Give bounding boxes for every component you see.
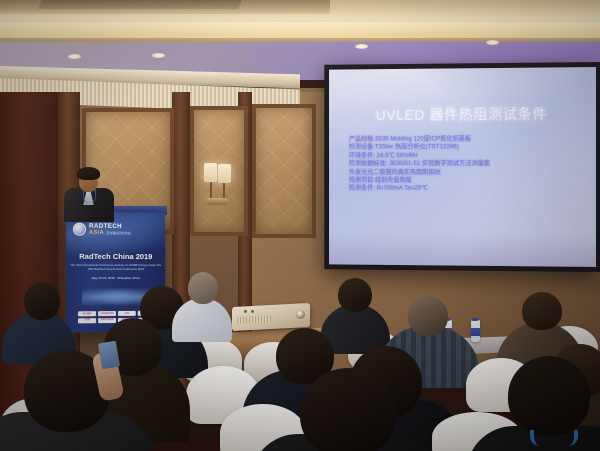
ceiling-coffer-inner <box>38 0 242 9</box>
globe-icon <box>73 223 86 236</box>
sconce-stem <box>223 183 225 199</box>
downlight-icon <box>152 53 165 58</box>
sconce-base <box>206 198 228 205</box>
slide-line: 外发光光二极管的真实热阻和阻抗 <box>349 169 582 177</box>
projector-button <box>251 310 254 313</box>
wall-quilt-panel <box>252 104 316 238</box>
slide-title: UVLED 器件热阻测试条件 <box>329 103 596 125</box>
person-head <box>338 278 372 312</box>
bottle-cap <box>472 318 478 321</box>
person-head <box>24 282 60 320</box>
person-lanyard <box>530 430 578 446</box>
podium-date: May 13-15, 2019 · Shanghai, China <box>66 276 165 280</box>
water-bottle <box>471 320 480 342</box>
downlight-icon <box>68 54 81 59</box>
conference-photo: UVLED 器件热阻测试条件 产品规格:3535 Molding 120度ICP… <box>0 0 600 451</box>
person-head <box>522 292 562 330</box>
sponsor-logo: ALLNEX <box>78 311 96 316</box>
screen-surface: UVLED 器件热阻测试条件 产品规格:3535 Molding 120度ICP… <box>329 67 596 267</box>
logo-tiny: 亚洲辐射固化协会 <box>106 230 131 234</box>
projector-button <box>244 310 247 313</box>
sponsor-logo: COVESTRO <box>98 311 116 316</box>
downlight-icon <box>355 44 368 49</box>
podium-subline: The 19th International Conference & Expo… <box>70 263 161 271</box>
sconce-shade-icon <box>204 163 217 182</box>
projector-lens-icon <box>296 310 305 319</box>
sconce-stem <box>210 182 212 198</box>
screen-shading <box>329 231 596 267</box>
bottle-label <box>471 328 480 336</box>
logo-sub: ASIA <box>89 229 104 235</box>
sconce-shade-icon <box>218 164 231 183</box>
sponsor-logo: SARTOMER <box>98 317 116 322</box>
slide-line: 检测设备:T3Ster 热阻分析仪(TST12266) <box>349 143 582 152</box>
wall-sconce <box>202 163 242 215</box>
person-head <box>300 368 396 451</box>
person-head <box>188 272 218 304</box>
sponsor-logo: IGM <box>118 311 136 316</box>
projection-screen: UVLED 器件热阻测试条件 产品规格:3535 Molding 120度ICP… <box>324 62 600 272</box>
person-head <box>408 296 448 336</box>
radtech-wordmark: RADTECH ASIA 亚洲辐射固化协会 <box>89 223 131 235</box>
speaker-hair <box>77 167 100 180</box>
slide-body: 产品规格:3535 Molding 120度ICP氮化铝基板 检测设备:T3St… <box>349 135 582 194</box>
downlight-icon <box>486 40 499 45</box>
slide-line: 检测依据标准: JESD51-51 实验数学测试方法测量紫 <box>349 160 582 168</box>
slide-line: 检测条件: If=700mA Ta=25℃ <box>349 185 582 194</box>
podium-headline: RadTech China 2019 <box>66 252 165 261</box>
radtech-logo: RADTECH ASIA 亚洲辐射固化协会 <box>73 223 160 237</box>
sponsor-logo: DSM <box>78 318 96 323</box>
person-head <box>508 356 590 436</box>
